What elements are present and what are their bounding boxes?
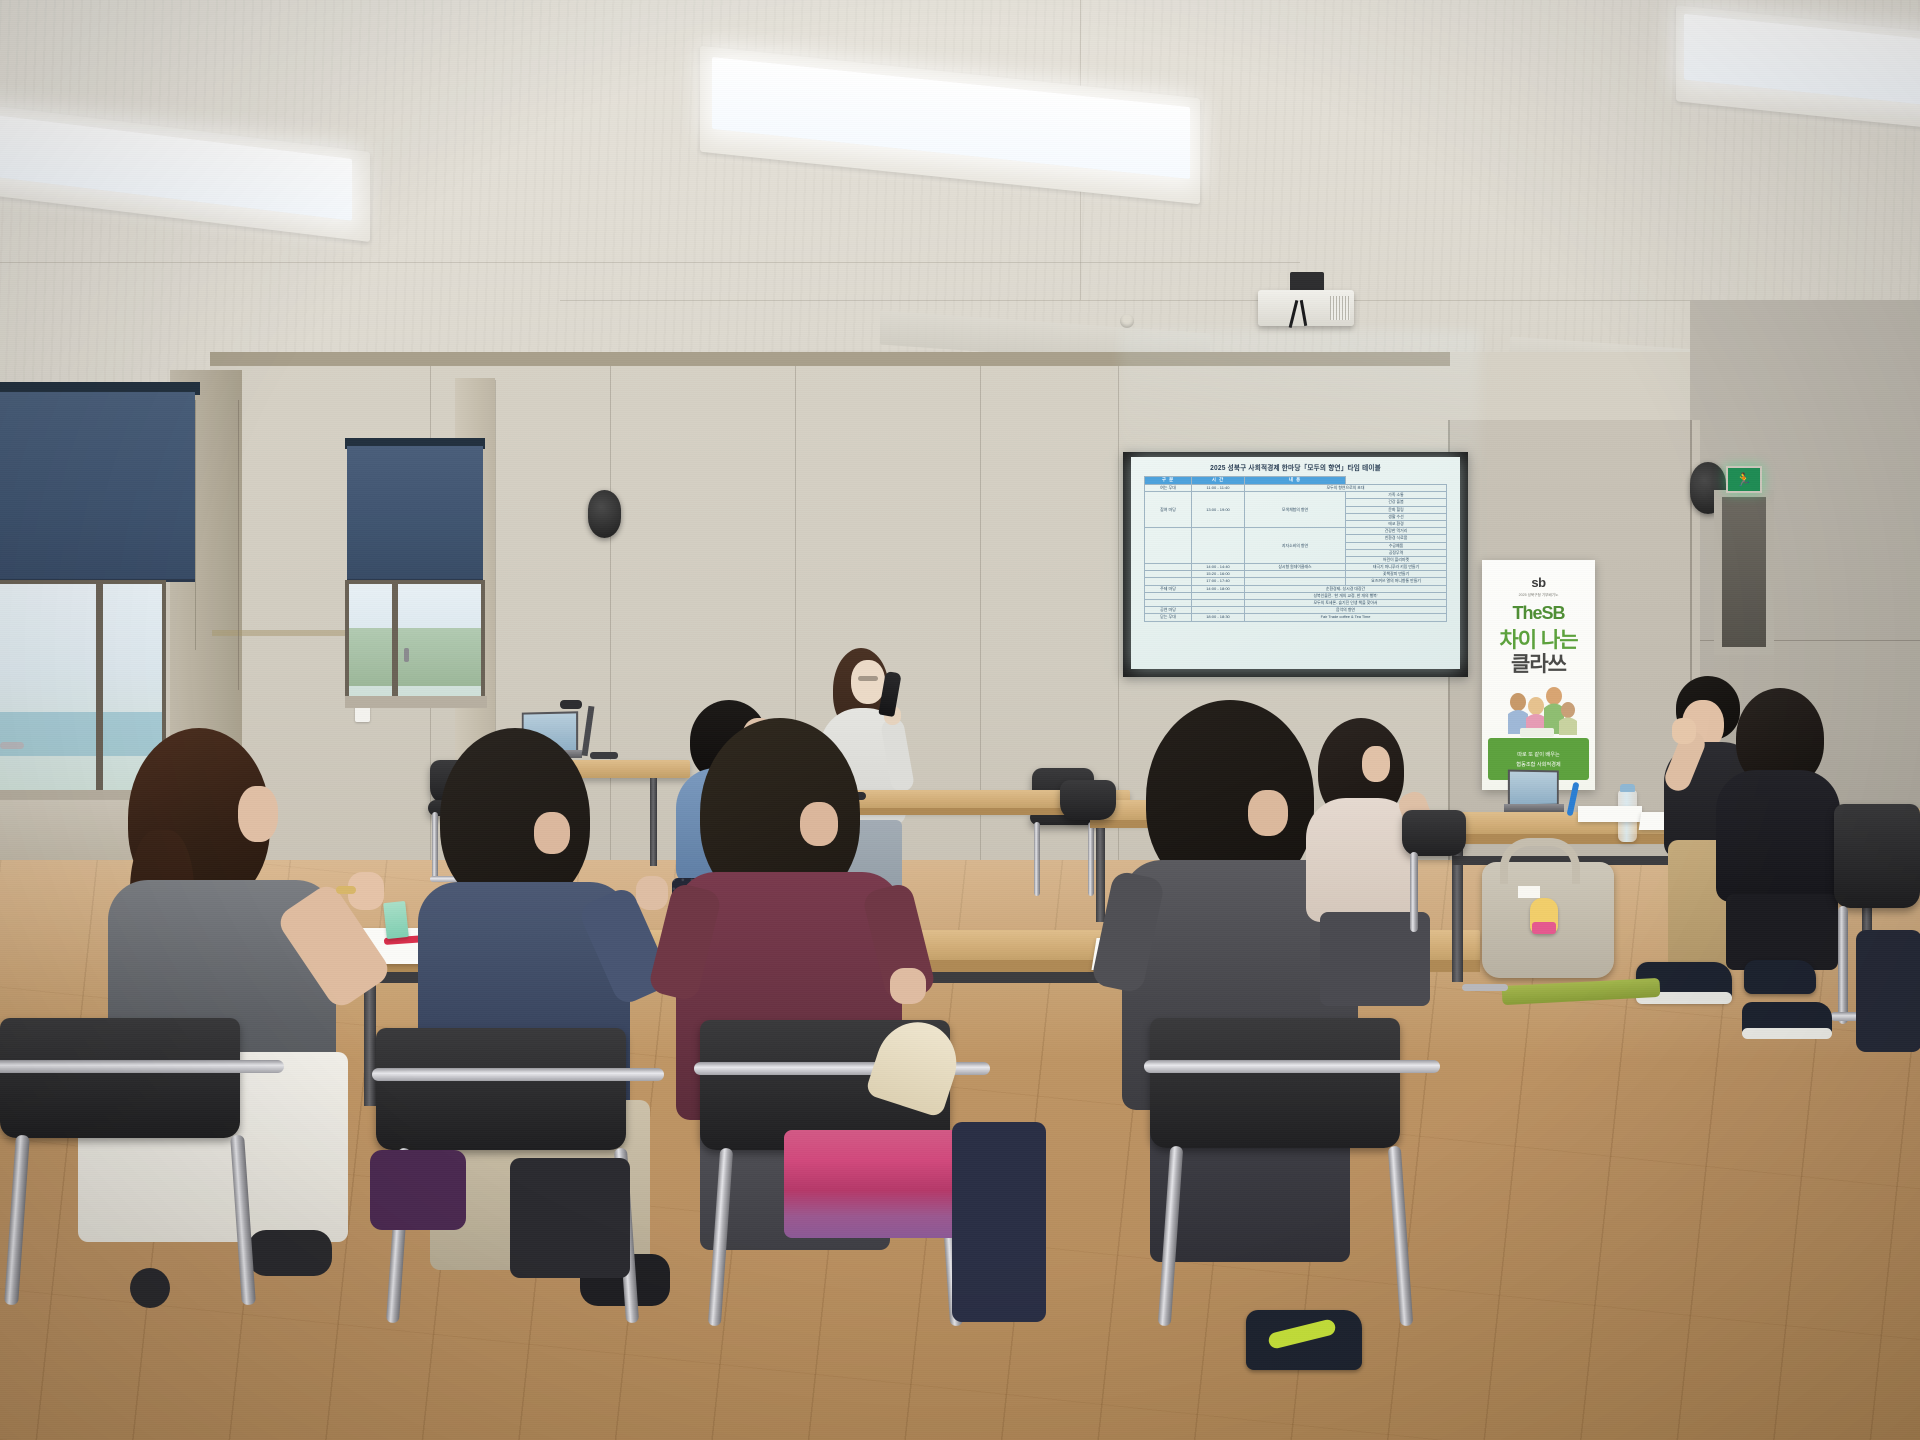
blind-cord[interactable] <box>195 400 196 650</box>
banner-logo: sb <box>1482 575 1595 590</box>
cell-item: 태극기 마니푸라 키링 만들기 <box>1346 564 1447 571</box>
attendee-hair <box>440 728 590 908</box>
banner-footer-line1: 따로 또 같이 배우는 <box>1517 751 1560 758</box>
cell-item: 생활 수선 <box>1346 513 1447 520</box>
cell-content <box>1245 571 1346 578</box>
cell-item: 친환경 식료품 <box>1346 535 1447 542</box>
handbag-tag <box>1518 886 1540 898</box>
cell-time: 14:00 - 18:00 <box>1192 585 1245 592</box>
chair-backrest[interactable] <box>1150 1018 1400 1148</box>
cell-time: - <box>1192 607 1245 614</box>
banner-title-k2: 클라쓰 <box>1482 648 1595 678</box>
banner-footer-line2: 협동조합 사회적경제 <box>1516 761 1560 768</box>
cell-time: 15:20 - 16:00 <box>1192 571 1245 578</box>
banner-title-en: TheSB <box>1482 603 1595 624</box>
cell-item: 수공예품 <box>1346 542 1447 549</box>
attendee-face <box>1362 746 1390 782</box>
chair-leg <box>1034 822 1040 896</box>
timetable-row: 14:00 - 14:40상시형 원데이클래스태극기 마니푸라 키링 만들기 <box>1145 564 1447 571</box>
attendee-neck <box>534 812 570 854</box>
cell-time <box>1192 592 1245 599</box>
handbag-strap <box>1500 838 1580 884</box>
cell-item: 건강한 먹거리 <box>1346 528 1447 535</box>
cell-section: 닫는 무대 <box>1145 614 1192 621</box>
banner-subline: 2025 성북구청 기부배기노 <box>1482 593 1595 598</box>
charm-skirt <box>1532 922 1556 934</box>
cell-time <box>1192 600 1245 607</box>
cell-section: 공연 마당 <box>1145 607 1192 614</box>
timetable-row: 공연 마당-음악의 향연 <box>1145 607 1447 614</box>
attendee-skirt <box>1726 894 1838 970</box>
presenter-glasses <box>858 676 878 681</box>
presenter-face <box>851 660 885 704</box>
cell-time <box>1192 528 1245 564</box>
table-leg <box>364 978 376 1106</box>
col-header-section: 구 분 <box>1145 477 1192 485</box>
umbrella-handle <box>1462 984 1508 991</box>
shoe-sole <box>1742 1028 1832 1039</box>
cell-item: 건강 돌봄 <box>1346 499 1447 506</box>
cell-item: 꽃책갈피 만들기 <box>1346 571 1447 578</box>
chair-leg <box>1088 822 1094 896</box>
attendee-shoe <box>1744 960 1816 994</box>
exit-sign-icon: 🏃 <box>1726 466 1762 493</box>
window-blind[interactable] <box>0 392 195 582</box>
cell-content <box>1245 578 1346 585</box>
cell-section <box>1145 600 1192 607</box>
window-frame <box>345 580 485 702</box>
timetable-row: 15:20 - 16:00꽃책갈피 만들기 <box>1145 571 1447 578</box>
timetable-row: 17:00 - 17:40요즈꺼쓰 열의 머니향통 만들기 <box>1145 578 1447 585</box>
wall-speaker-icon <box>588 490 621 538</box>
projector-beam <box>1120 330 1480 465</box>
cell-item: 문화 힐링 <box>1346 506 1447 513</box>
cell-content: 상시형 원데이클래스 <box>1245 564 1346 571</box>
cell-item: 에코 환경 <box>1346 520 1447 527</box>
attendee-neck <box>238 786 278 842</box>
chair-backrest[interactable] <box>1402 810 1466 856</box>
col-header-content: 내 용 <box>1245 477 1346 485</box>
window-latch[interactable] <box>404 648 409 662</box>
attendee-neck <box>800 802 838 846</box>
ceiling-seam <box>0 262 1300 263</box>
cell-section <box>1145 571 1192 578</box>
cell-content: 음악의 향연 <box>1245 607 1447 614</box>
chair-armrail <box>1144 1060 1440 1073</box>
cell-content: 모색체험의 향연 <box>1245 492 1346 528</box>
cell-content: Fair Trade coffee & Tea Time <box>1245 614 1447 621</box>
chair-backrest[interactable] <box>1060 780 1116 820</box>
chair-backrest[interactable] <box>1834 804 1920 908</box>
timetable-row: 참여 마당13:00 - 19:00모색체험의 향연가족 소통 <box>1145 492 1447 499</box>
window-mullion <box>392 582 398 700</box>
door-handle[interactable] <box>0 742 24 749</box>
attendee-neck <box>1248 790 1288 836</box>
green-card[interactable] <box>383 901 409 939</box>
cell-content: 순환경제- 성시경 대장간 <box>1245 585 1447 592</box>
laptop-base[interactable] <box>1504 804 1564 812</box>
timetable-row: 지자소비의 향연건강한 먹거리 <box>1145 528 1447 535</box>
table-leg <box>650 778 657 866</box>
chair-leg <box>432 812 438 882</box>
bracelet <box>336 886 356 894</box>
cell-section <box>1145 578 1192 585</box>
navy-bag[interactable] <box>952 1122 1046 1322</box>
cell-content: 모두의 토세론- 슬기진 인생 책을 찾아서 <box>1245 600 1447 607</box>
cell-content: 모두의 향연으로의 초대 <box>1245 485 1447 492</box>
cell-section: 참여 마당 <box>1145 492 1192 528</box>
attendee-black-jacket <box>1716 770 1840 902</box>
bottle-cap[interactable] <box>1620 784 1635 792</box>
standing-banner: sb 2025 성북구청 기부배기노 TheSB 차이 나는 클라쓰 따로 또 … <box>1482 560 1595 790</box>
slide-title: 2025 성북구 사회적경제 한마당「모두의 향연」타임 테이블 <box>1131 462 1460 473</box>
window-sill <box>345 696 487 708</box>
cell-section: 여는 무대 <box>1145 485 1192 492</box>
cell-section <box>1145 528 1192 564</box>
attendee-hand <box>1672 718 1696 744</box>
exit-door[interactable] <box>1722 497 1766 647</box>
cell-time: 14:00 - 14:40 <box>1192 564 1245 571</box>
attendee-hand <box>890 968 926 1004</box>
projector-vent <box>1330 296 1350 320</box>
chair-armrail <box>0 1060 284 1073</box>
chair-backrest[interactable] <box>376 1028 626 1150</box>
cell-section <box>1145 592 1192 599</box>
mic-stand-head <box>560 700 582 709</box>
pink-striped-bag[interactable] <box>784 1130 974 1238</box>
chair-armrail <box>372 1068 664 1081</box>
table-leg <box>1096 812 1105 922</box>
cell-content: 지자소비의 향연 <box>1245 528 1346 564</box>
col-header-time: 시 간 <box>1192 477 1245 485</box>
window-blind[interactable] <box>347 446 483 582</box>
blind-cord[interactable] <box>238 400 239 690</box>
chair-caster <box>130 1268 170 1308</box>
cell-item: 가족 소통 <box>1346 492 1447 499</box>
timetable-row: 여는 무대11:00 - 11:40모두의 향연으로의 초대 <box>1145 485 1447 492</box>
cell-item: 요즈꺼쓰 열의 머니향통 만들기 <box>1346 578 1447 585</box>
timetable-row: 모두의 토세론- 슬기진 인생 책을 찾아서 <box>1145 600 1447 607</box>
cell-time: 18:00 - 18:30 <box>1192 614 1245 621</box>
ceiling-smoke-detector <box>1120 314 1134 328</box>
timetable-row: 성북인물전- '한 개의 교정, 한 개의 행복' <box>1145 592 1447 599</box>
timetable-header-row: 구 분 시 간 내 용 <box>1145 477 1447 485</box>
timetable-row: 주제 마당14:00 - 18:00순환경제- 성시경 대장간 <box>1145 585 1447 592</box>
banner-illustration-icon <box>1496 680 1581 742</box>
timetable-row: 닫는 무대18:00 - 18:30Fair Trade coffee & Te… <box>1145 614 1447 621</box>
attendee-shoe <box>248 1230 332 1276</box>
seminar-room-photo: 2025 성북구 사회적경제 한마당「모두의 향연」타임 테이블 구 분 시 간… <box>0 0 1920 1440</box>
attendee-beige-blouse <box>1306 798 1418 922</box>
slide-timetable: 구 분 시 간 내 용 여는 무대11:00 - 11:40모두의 향연으로의 … <box>1144 476 1447 622</box>
chair-backrest[interactable] <box>0 1018 240 1138</box>
chair-leg <box>1410 852 1418 932</box>
cell-content: 성북인물전- '한 개의 교정, 한 개의 행복' <box>1245 592 1447 599</box>
window-mullion <box>96 582 103 797</box>
cell-section: 주제 마당 <box>1145 585 1192 592</box>
cell-time: 13:00 - 19:00 <box>1192 492 1245 528</box>
laptop-screen[interactable] <box>1508 770 1559 807</box>
remote-control[interactable] <box>590 752 618 759</box>
cell-section <box>1145 564 1192 571</box>
handout-paper[interactable] <box>1578 806 1642 822</box>
attendee-hand <box>636 876 668 910</box>
projection-screen: 2025 성북구 사회적경제 한마당「모두의 향연」타임 테이블 구 분 시 간… <box>1131 457 1460 669</box>
exit-sign-glyph: 🏃 <box>1736 473 1752 486</box>
chair-leg <box>1838 906 1848 1024</box>
cell-time: 17:00 - 17:40 <box>1192 578 1245 585</box>
purple-bag[interactable] <box>370 1150 466 1230</box>
black-backpack[interactable] <box>510 1158 630 1278</box>
dark-bag[interactable] <box>1856 930 1920 1052</box>
cell-item: 어린이 플리마켓 <box>1346 556 1447 563</box>
cell-time: 11:00 - 11:40 <box>1192 485 1245 492</box>
wall-seam <box>610 360 611 880</box>
cell-item: 공정무역 <box>1346 549 1447 556</box>
